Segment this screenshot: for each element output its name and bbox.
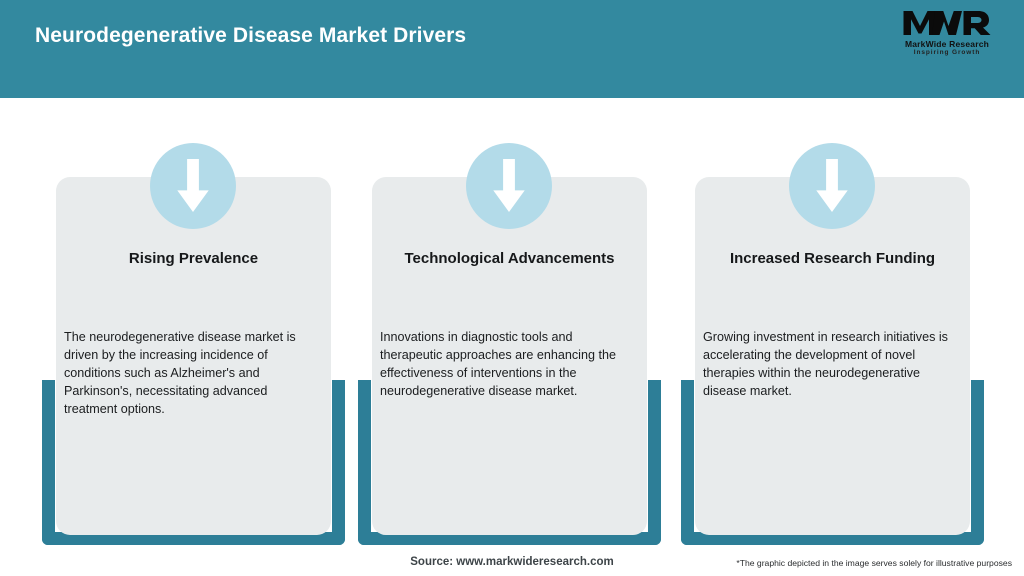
- card-body-text: Innovations in diagnostic tools and ther…: [380, 328, 635, 400]
- arrow-down-icon: [789, 143, 875, 229]
- driver-cards: Rising Prevalence The neurodegenerative …: [0, 0, 1024, 576]
- card-heading: Increased Research Funding: [695, 250, 970, 267]
- card-heading: Technological Advancements: [372, 250, 647, 267]
- arrow-down-icon: [466, 143, 552, 229]
- driver-card[interactable]: Rising Prevalence The neurodegenerative …: [42, 143, 345, 545]
- disclaimer-note: *The graphic depicted in the image serve…: [736, 558, 1012, 568]
- card-body-text: Growing investment in research initiativ…: [703, 328, 958, 400]
- slide-root: Neurodegenerative Disease Market Drivers…: [0, 0, 1024, 576]
- arrow-down-icon: [150, 143, 236, 229]
- card-body-text: The neurodegenerative disease market is …: [64, 328, 319, 418]
- card-heading: Rising Prevalence: [56, 250, 331, 267]
- driver-card[interactable]: Technological Advancements Innovations i…: [358, 143, 661, 545]
- driver-card[interactable]: Increased Research Funding Growing inves…: [681, 143, 984, 545]
